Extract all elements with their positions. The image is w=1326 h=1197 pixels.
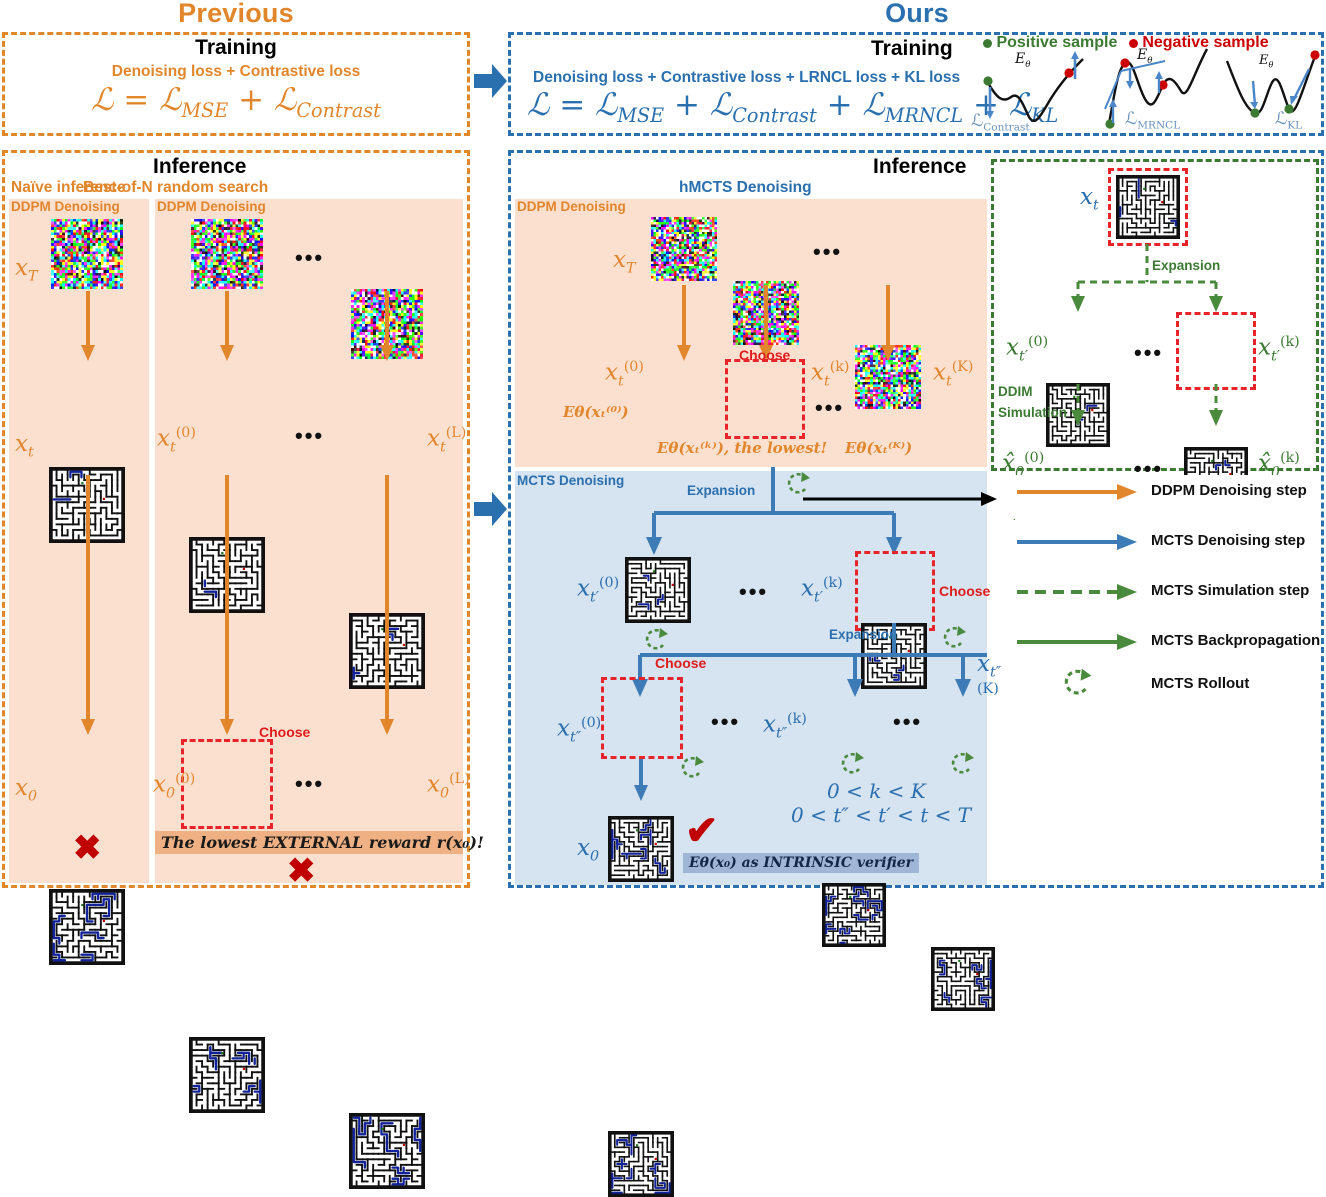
mcts-label-x0: x0 [577, 835, 599, 865]
bon-maze-tile-x0L [349, 1113, 425, 1189]
ours-inference-panel: Inference hMCTS Denoising DDPM Denoising… [508, 150, 1324, 888]
naive-inference-column: DDPM Denoising xT xt x0 ✖ [9, 199, 149, 883]
formula-lhs: ℒ [91, 82, 113, 118]
mcts-denoising-band: MCTS Denoising Expansion xt′(0) ••• xt′(… [515, 471, 987, 885]
legend-label-mcts-simulation: MCTS Simulation step [1151, 582, 1309, 599]
ours-training-loss-words: Denoising loss + Contrastive loss + LRNC… [533, 69, 960, 87]
ours-label-xT: xT [613, 247, 636, 277]
bon-maze-ellipsis-x0: ••• [295, 773, 324, 795]
naive-maze-tile-x0 [49, 889, 125, 965]
mcts-inequality-k: 0 < k < K [827, 779, 926, 803]
mcts-rollout-icon-level2-k [837, 749, 867, 779]
ours-formula-lhs: ℒ [527, 87, 549, 123]
legend-line-mcts-backprop [1015, 633, 1139, 651]
mcts-arrow-to-x0 [633, 759, 649, 803]
formula-term2: ℒContrast [274, 82, 381, 118]
bon-label-xt0: xt(0) [157, 425, 196, 455]
ours-training-panel: Training Denoising loss + Contrastive lo… [508, 32, 1324, 136]
legend: DDPM Denoising step MCTS Denoising step … [1015, 475, 1321, 881]
bon-external-reward-ribbon: The lowest EXTERNAL reward r(x₀)! [155, 831, 463, 854]
naive-label-x0: x0 [15, 775, 37, 805]
mcts-maze-tile-x0 [608, 1131, 674, 1197]
naive-label-xT: xT [15, 255, 38, 285]
caption-loss-kl: ℒKL [1275, 109, 1302, 131]
energy-label-contrast: Eθ [1015, 51, 1030, 70]
energy-landscape-mrncl: Eθ ℒMRNCL [1103, 47, 1229, 131]
mcts-level2-ellipsis-left: ••• [711, 711, 740, 733]
bon-noise-tile-first [191, 219, 263, 289]
mcts-success-check-icon: ✔ [685, 811, 719, 851]
ours-ddpm-choose-highlight-box [725, 359, 805, 439]
formula-term1: ℒMSE [159, 82, 228, 118]
mcts-level1-choose-label: Choose [939, 583, 990, 599]
legend-label-mcts-rollout: MCTS Rollout [1151, 675, 1249, 692]
bon-maze-tile-x00 [189, 1037, 265, 1113]
previous-training-formula: ℒ = ℒMSE + ℒContrast [5, 82, 467, 122]
energy-landscape-contrast: Eθ ℒContrast [983, 53, 1101, 131]
mcts-label-xtpp0: xt″(0) [557, 715, 601, 745]
rollout-expansion-tree [994, 244, 1322, 320]
positive-sample-label: Positive sample [996, 34, 1117, 51]
bon-choose-label: Choose [259, 724, 310, 740]
hmcts-denoising-title: hMCTS Denoising [679, 179, 812, 197]
ours-label-xtk: xt(k) [811, 359, 849, 389]
ours-noise-tile-0 [651, 217, 717, 281]
ours-energy-xtk: Eθ(xₜ⁽ᵏ⁾), the lowest! [657, 439, 827, 457]
ours-arrow-noiseK-to-maze [880, 285, 896, 363]
legend-item-mcts-backprop [1015, 633, 1139, 651]
energy-label-kl: Eθ [1259, 53, 1273, 70]
naive-ddpm-label: DDPM Denoising [11, 199, 120, 214]
legend-item-ddpm [1015, 483, 1139, 501]
ours-training-title: Training [871, 37, 953, 61]
mcts-maze-tile-xtppk [822, 883, 886, 947]
bon-inference-column: DDPM Denoising ••• xt(0) ••• xt(L) Choos… [155, 199, 463, 883]
page-title-previous: Previous [0, 0, 472, 29]
previous-inference-panel: Inference Naïve inference Best-of-N rand… [2, 150, 470, 888]
previous-col-bon-title: Best-of-N random search [83, 179, 268, 197]
bon-arrow-left-noise-to-maze [219, 291, 235, 363]
positive-sample-dot-icon [983, 39, 992, 48]
legend-rollout-icon [1059, 665, 1095, 701]
bon-arrow-right-noise-to-maze [379, 291, 395, 363]
rollout-maze-tile-xt [1116, 175, 1180, 239]
mcts-level2-choose-highlight-box [601, 677, 683, 759]
ours-arrow-noise0-to-maze [676, 285, 692, 363]
ours-energy-xt0: Eθ(xₜ⁽⁰⁾) [563, 403, 629, 421]
mcts-maze-tile-xtpp0 [608, 816, 674, 882]
mcts-label-xtppk: xt″(k) [763, 711, 807, 741]
naive-noise-tile-xT [51, 219, 123, 289]
bon-arrow-left-xt-to-x0 [219, 475, 235, 737]
arrow-to-mcts-rollout-box [803, 491, 999, 507]
rollout-label-xt: xt [1080, 184, 1099, 214]
legend-item-mcts-denoising [1015, 533, 1139, 551]
bon-label-x0L: x0(L) [427, 771, 470, 801]
ours-label-xt0: xt(0) [605, 359, 644, 389]
ddpm-denoising-band: DDPM Denoising xT ••• xt(0) Choose xt(k)… [515, 199, 987, 467]
ours-formula-term-contrast: ℒContrast [710, 87, 817, 123]
caption-loss-contrast: ℒContrast [971, 111, 1030, 133]
ours-formula-term-mse: ℒMSE [595, 87, 664, 123]
mcts-inequality-t: 0 < t″ < t′ < t < T [791, 803, 971, 827]
legend-item-mcts-rollout [1059, 665, 1095, 701]
ours-label-xtK: xt(K) [933, 359, 973, 389]
bon-arrow-right-xt-to-x0 [379, 475, 395, 737]
naive-arrow-xT-to-xt [80, 291, 96, 363]
legend-line-mcts-denoising [1015, 533, 1139, 551]
legend-line-mcts-simulation [1015, 583, 1139, 601]
naive-label-xt: xt [15, 431, 34, 461]
formula-equals: = [123, 82, 149, 118]
mcts-level2-choose-label: Choose [655, 655, 706, 671]
ours-formula-term-mrncl: ℒMRNCL [862, 87, 963, 123]
legend-label-mcts-backprop: MCTS Backpropagation [1151, 632, 1320, 649]
arrow-previous-to-ours-training [474, 62, 508, 100]
page-title-ours: Ours [508, 0, 1326, 29]
legend-label-mcts-denoising: MCTS Denoising step [1151, 532, 1305, 549]
bon-noise-ellipsis: ••• [295, 247, 324, 269]
energy-label-mrncl: Eθ [1137, 47, 1152, 66]
bon-ddpm-label: DDPM Denoising [157, 199, 266, 214]
legend-item-mcts-simulation [1015, 583, 1139, 601]
ours-energy-xtK: Eθ(xₜ⁽ᴷ⁾) [845, 439, 912, 457]
ours-noise-ellipsis: ••• [813, 241, 842, 263]
mcts-level2-ellipsis-right: ••• [893, 711, 922, 733]
ours-formula-equals: = [559, 87, 585, 123]
legend-label-ddpm: DDPM Denoising step [1151, 482, 1307, 499]
ours-ddpm-label: DDPM Denoising [517, 199, 626, 214]
naive-fail-x-icon: ✖ [73, 831, 102, 865]
legend-line-ddpm [1015, 483, 1139, 501]
formula-plus: + [238, 82, 264, 118]
ours-maze-ellipsis: ••• [815, 397, 844, 419]
naive-arrow-xt-to-x0 [80, 475, 96, 737]
mcts-rollout-icon-final [677, 753, 707, 783]
mcts-level1-ellipsis: ••• [739, 581, 768, 603]
previous-training-title: Training [5, 36, 467, 60]
mcts-maze-tile-xtp0 [625, 557, 691, 623]
mcts-maze-tile-xtppK [931, 947, 995, 1011]
mcts-label-xtp0: xt′(0) [577, 575, 619, 605]
bon-maze-ellipsis-xt: ••• [295, 425, 324, 447]
bon-label-xtL: xt(L) [427, 425, 466, 455]
previous-training-loss-words: Denoising loss + Contrastive loss [5, 63, 467, 81]
mcts-rollout-icon-level2-K [947, 749, 977, 779]
mcts-level1-choose-highlight-box [855, 551, 935, 631]
mcts-rollout-box: xt Expansion xt′(0) ••• xt′(k) DDIM Simu… [991, 159, 1319, 471]
ours-inference-title: Inference [873, 155, 966, 179]
intrinsic-verifier-ribbon: Eθ(x₀) as INTRINSIC verifier [683, 853, 919, 873]
bon-fail-x-icon: ✖ [287, 854, 316, 888]
caption-loss-mrncl: ℒMRNCL [1125, 109, 1180, 131]
arrow-previous-to-ours-inference [474, 490, 508, 528]
energy-landscape-kl: Eθ ℒKL [1225, 47, 1326, 131]
bon-label-x00: x0(0) [153, 771, 195, 801]
mcts-label-xtpk: xt′(k) [801, 575, 843, 605]
mcts-label-xtppK: xt″(K) [977, 651, 1001, 707]
previous-training-panel: Training Denoising loss + Contrastive lo… [2, 32, 470, 136]
previous-inference-title: Inference [153, 155, 246, 179]
